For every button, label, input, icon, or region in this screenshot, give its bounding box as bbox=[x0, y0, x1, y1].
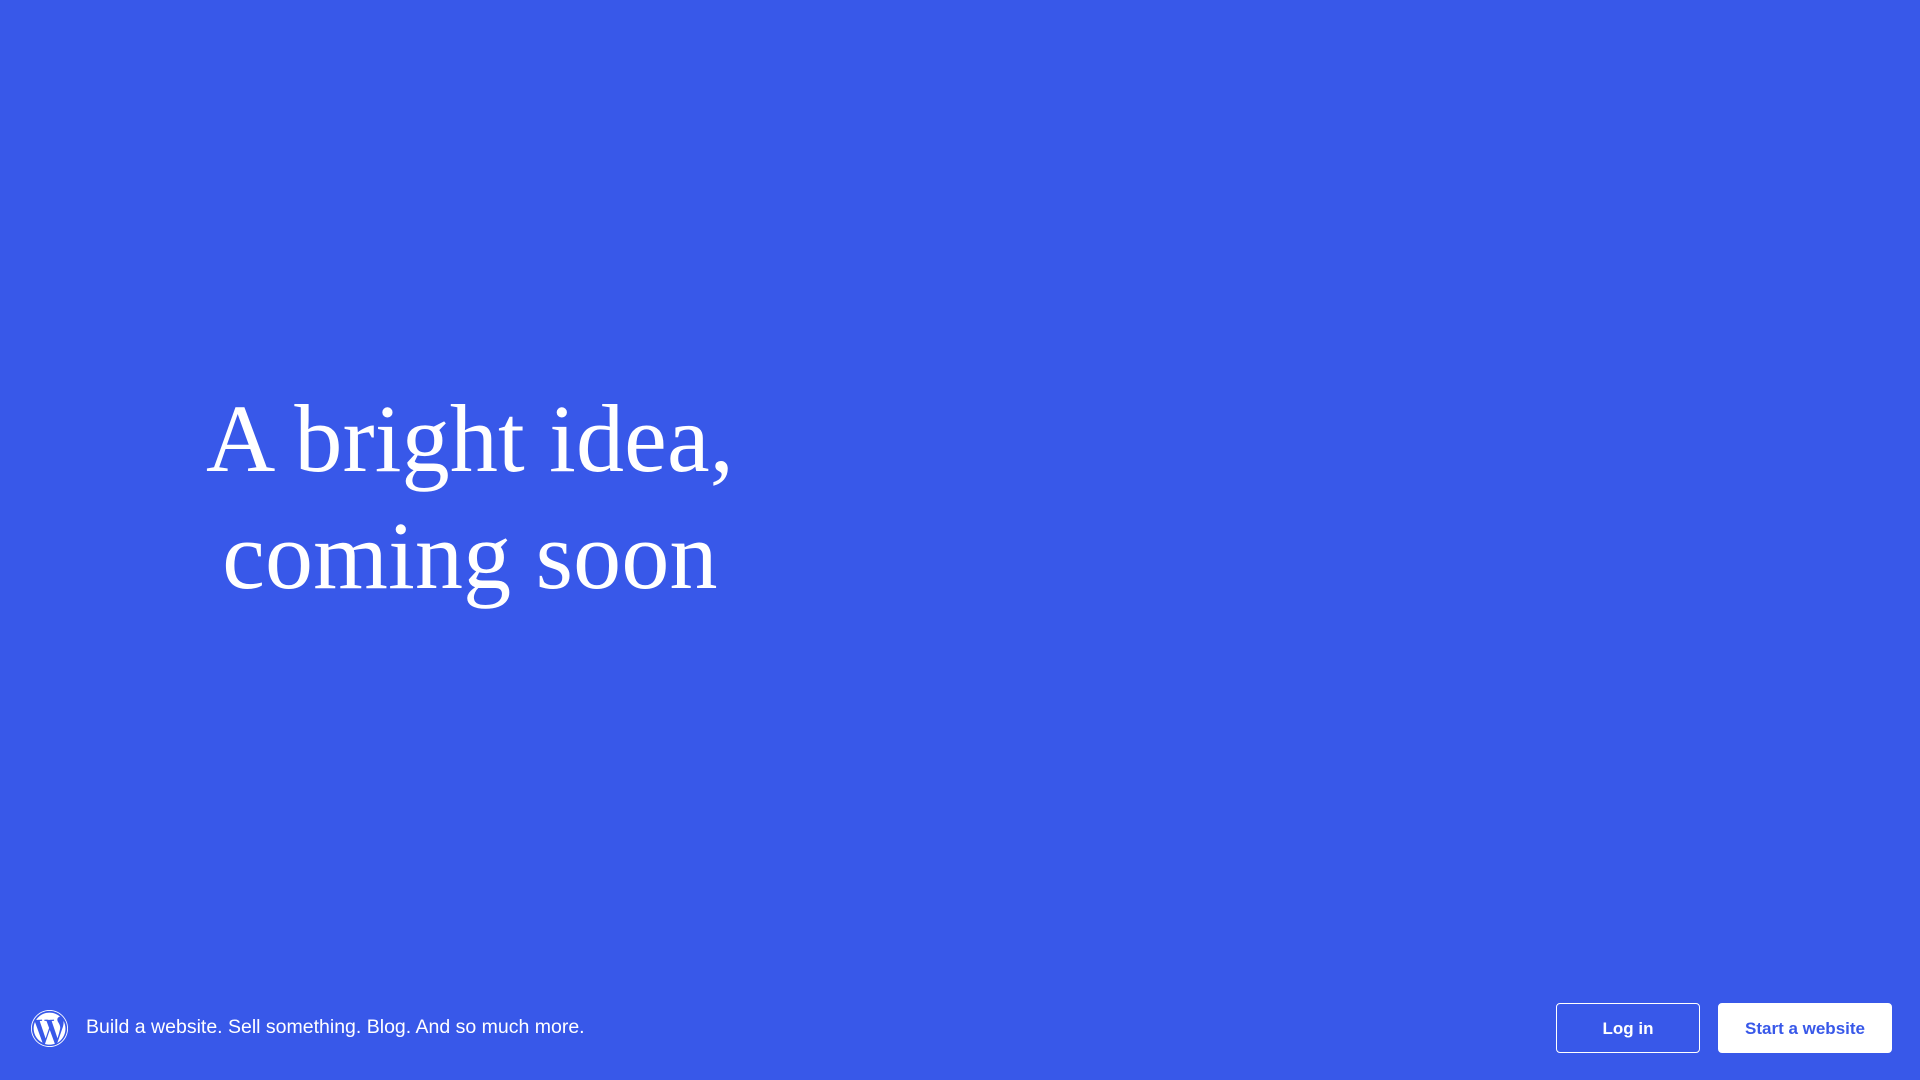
footer-actions: Log in Start a website bbox=[1556, 1003, 1892, 1053]
hero-section: A bright idea,coming soon bbox=[0, 0, 1920, 976]
coming-soon-page: A bright idea,coming soon Build a websit… bbox=[0, 0, 1920, 1080]
page-headline: A bright idea,coming soon bbox=[150, 380, 790, 614]
footer-tagline: Build a website. Sell something. Blog. A… bbox=[86, 1015, 585, 1040]
start-a-website-button[interactable]: Start a website bbox=[1718, 1003, 1892, 1053]
footer-branding: Build a website. Sell something. Blog. A… bbox=[31, 1010, 1556, 1047]
footer-bar: Build a website. Sell something. Blog. A… bbox=[0, 976, 1920, 1080]
headline-line-1: A bright idea, bbox=[206, 385, 734, 492]
log-in-button[interactable]: Log in bbox=[1556, 1003, 1700, 1053]
hero-content: A bright idea,coming soon bbox=[150, 380, 790, 614]
wordpress-logo-icon bbox=[31, 1010, 68, 1047]
headline-line-2: coming soon bbox=[222, 502, 718, 609]
